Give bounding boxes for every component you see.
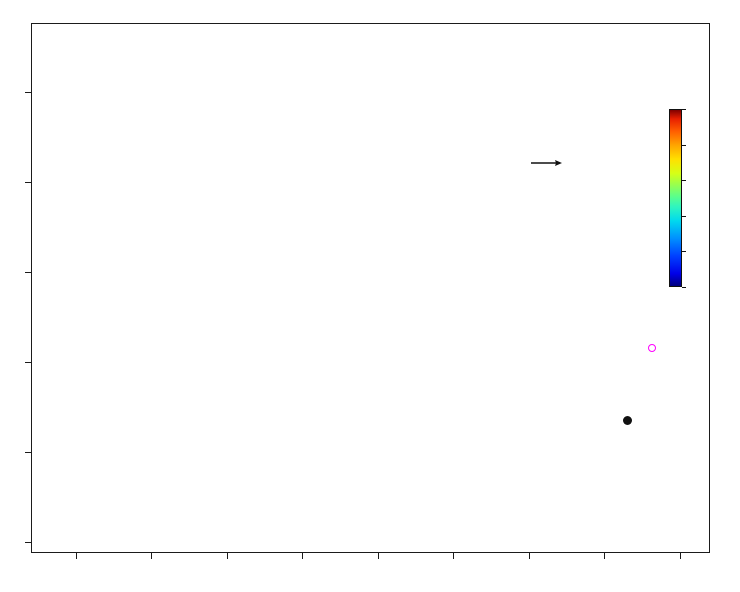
colorbar: [669, 109, 682, 287]
x-axis-tick: [453, 553, 454, 559]
argo-marker: [648, 344, 656, 352]
y-axis-tick: [25, 182, 31, 183]
y-axis-tick: [25, 92, 31, 93]
colorbar-tick: [682, 251, 686, 252]
y-axis-tick: [25, 362, 31, 363]
map-plot-area: [31, 23, 710, 553]
colorbar-gradient: [669, 109, 682, 287]
x-axis-tick: [529, 553, 530, 559]
right-arrow-icon: [530, 157, 562, 169]
colorbar-tick: [682, 180, 686, 181]
x-axis-tick: [151, 553, 152, 559]
y-axis-tick: [25, 452, 31, 453]
y-axis-tick: [25, 542, 31, 543]
credit-label: [718, 48, 738, 558]
colorbar-tick: [682, 287, 686, 288]
x-axis-tick: [227, 553, 228, 559]
x-axis-tick: [378, 553, 379, 559]
colorbar-tick: [682, 109, 686, 110]
sst-std-dev-map-figure: [0, 0, 740, 592]
x-axis-tick: [76, 553, 77, 559]
y-axis: [0, 0, 27, 592]
colorbar-tick: [682, 216, 686, 217]
colorbar-tick: [682, 145, 686, 146]
sst-heatmap-canvas: [32, 24, 709, 552]
x-axis-tick: [604, 553, 605, 559]
y-axis-tick: [25, 272, 31, 273]
colorbar-title: [708, 110, 710, 286]
x-axis-tick: [302, 553, 303, 559]
dongara-marker: [623, 416, 632, 425]
x-axis-tick: [680, 553, 681, 559]
